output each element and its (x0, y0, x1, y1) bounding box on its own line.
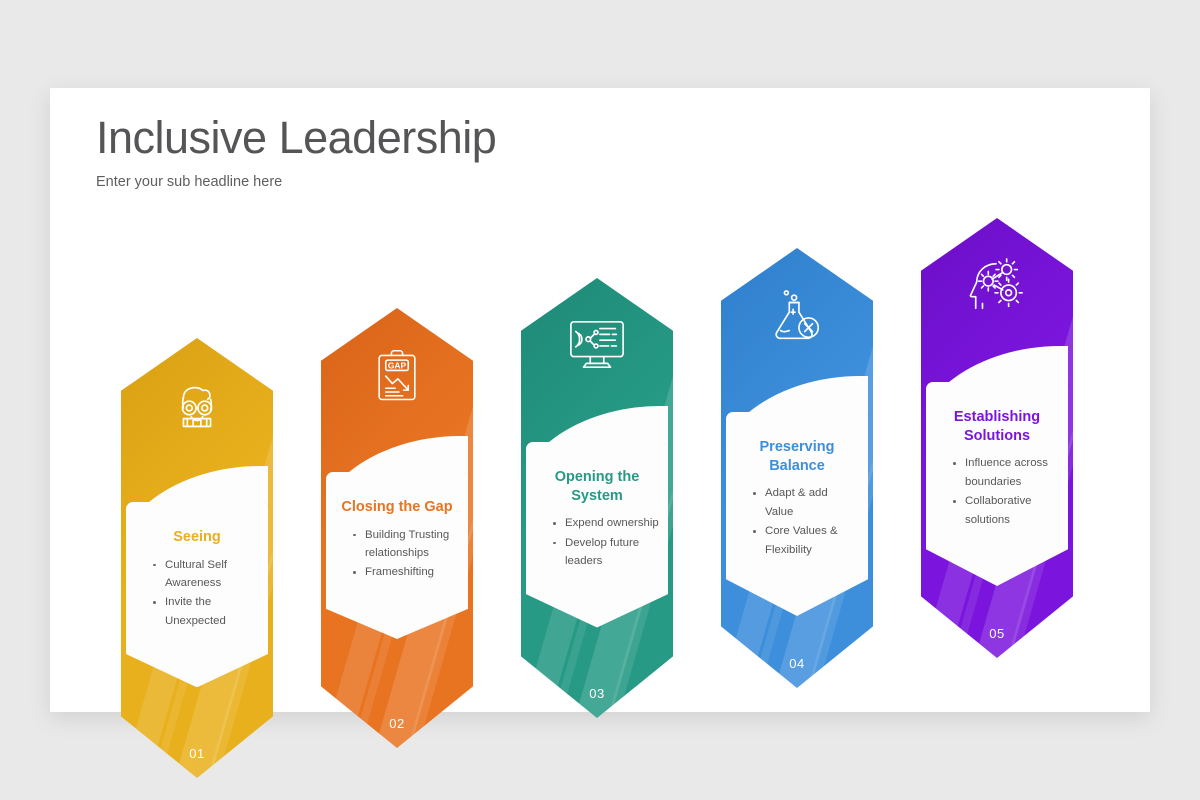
infographic-card-04[interactable]: Preserving BalanceAdapt & add ValueCore … (721, 248, 873, 688)
card-title: Opening the System (535, 468, 659, 505)
infographic-card-05[interactable]: Establishing SolutionsInfluence across b… (921, 218, 1073, 658)
card-step-number: 05 (921, 626, 1073, 641)
card-content-panel: Establishing SolutionsInfluence across b… (926, 382, 1068, 586)
card-bullet-item: Develop future leaders (551, 534, 659, 571)
infographic-card-02[interactable]: GAP Closing the GapBuilding Trusting rel… (321, 308, 473, 748)
card-content-panel: Closing the GapBuilding Trusting relatio… (326, 472, 468, 639)
card-bullet-item: Core Values & Flexibility (751, 522, 859, 559)
card-bullet-list: Adapt & add ValueCore Values & Flexibili… (735, 484, 859, 559)
infographic-card-row: SeeingCultural Self AwarenessInvite the … (50, 88, 1150, 712)
head-gears-icon (966, 256, 1028, 316)
card-bullet-item: Frameshifting (351, 563, 459, 581)
card-bullet-item: Invite the Unexpected (151, 593, 259, 630)
card-bullet-list: Building Trusting relationshipsFrameshif… (335, 526, 459, 582)
card-bullet-item: Cultural Self Awareness (151, 556, 259, 593)
card-bullet-item: Collaborative solutions (951, 492, 1059, 529)
card-title: Seeing (135, 528, 259, 547)
card-step-number: 02 (321, 716, 473, 731)
card-bullet-item: Building Trusting relationships (351, 526, 459, 563)
card-bullet-list: Expend ownershipDevelop future leaders (535, 514, 659, 570)
person-binoculars-icon (166, 376, 228, 438)
card-content-panel: SeeingCultural Self AwarenessInvite the … (126, 502, 268, 687)
card-title: Preserving Balance (735, 438, 859, 475)
card-title: Establishing Solutions (935, 408, 1059, 445)
card-bullet-item: Influence across boundaries (951, 454, 1059, 491)
slide-canvas: Inclusive Leadership Enter your sub head… (50, 88, 1150, 712)
card-title: Closing the Gap (335, 498, 459, 517)
card-step-number: 01 (121, 746, 273, 761)
card-bullet-item: Adapt & add Value (751, 484, 859, 521)
card-step-number: 03 (521, 686, 673, 701)
monitor-circuit-icon (565, 316, 629, 374)
svg-text:GAP: GAP (388, 361, 407, 371)
card-step-number: 04 (721, 656, 873, 671)
card-bullet-list: Cultural Self AwarenessInvite the Unexpe… (135, 556, 259, 631)
flask-cross-icon (768, 286, 826, 348)
infographic-card-01[interactable]: SeeingCultural Self AwarenessInvite the … (121, 338, 273, 778)
card-content-panel: Opening the SystemExpend ownershipDevelo… (526, 442, 668, 628)
card-bullet-item: Expend ownership (551, 514, 659, 532)
clipboard-gap-chart-icon: GAP (367, 346, 427, 408)
infographic-card-03[interactable]: Opening the SystemExpend ownershipDevelo… (521, 278, 673, 718)
card-bullet-list: Influence across boundariesCollaborative… (935, 454, 1059, 529)
card-content-panel: Preserving BalanceAdapt & add ValueCore … (726, 412, 868, 616)
